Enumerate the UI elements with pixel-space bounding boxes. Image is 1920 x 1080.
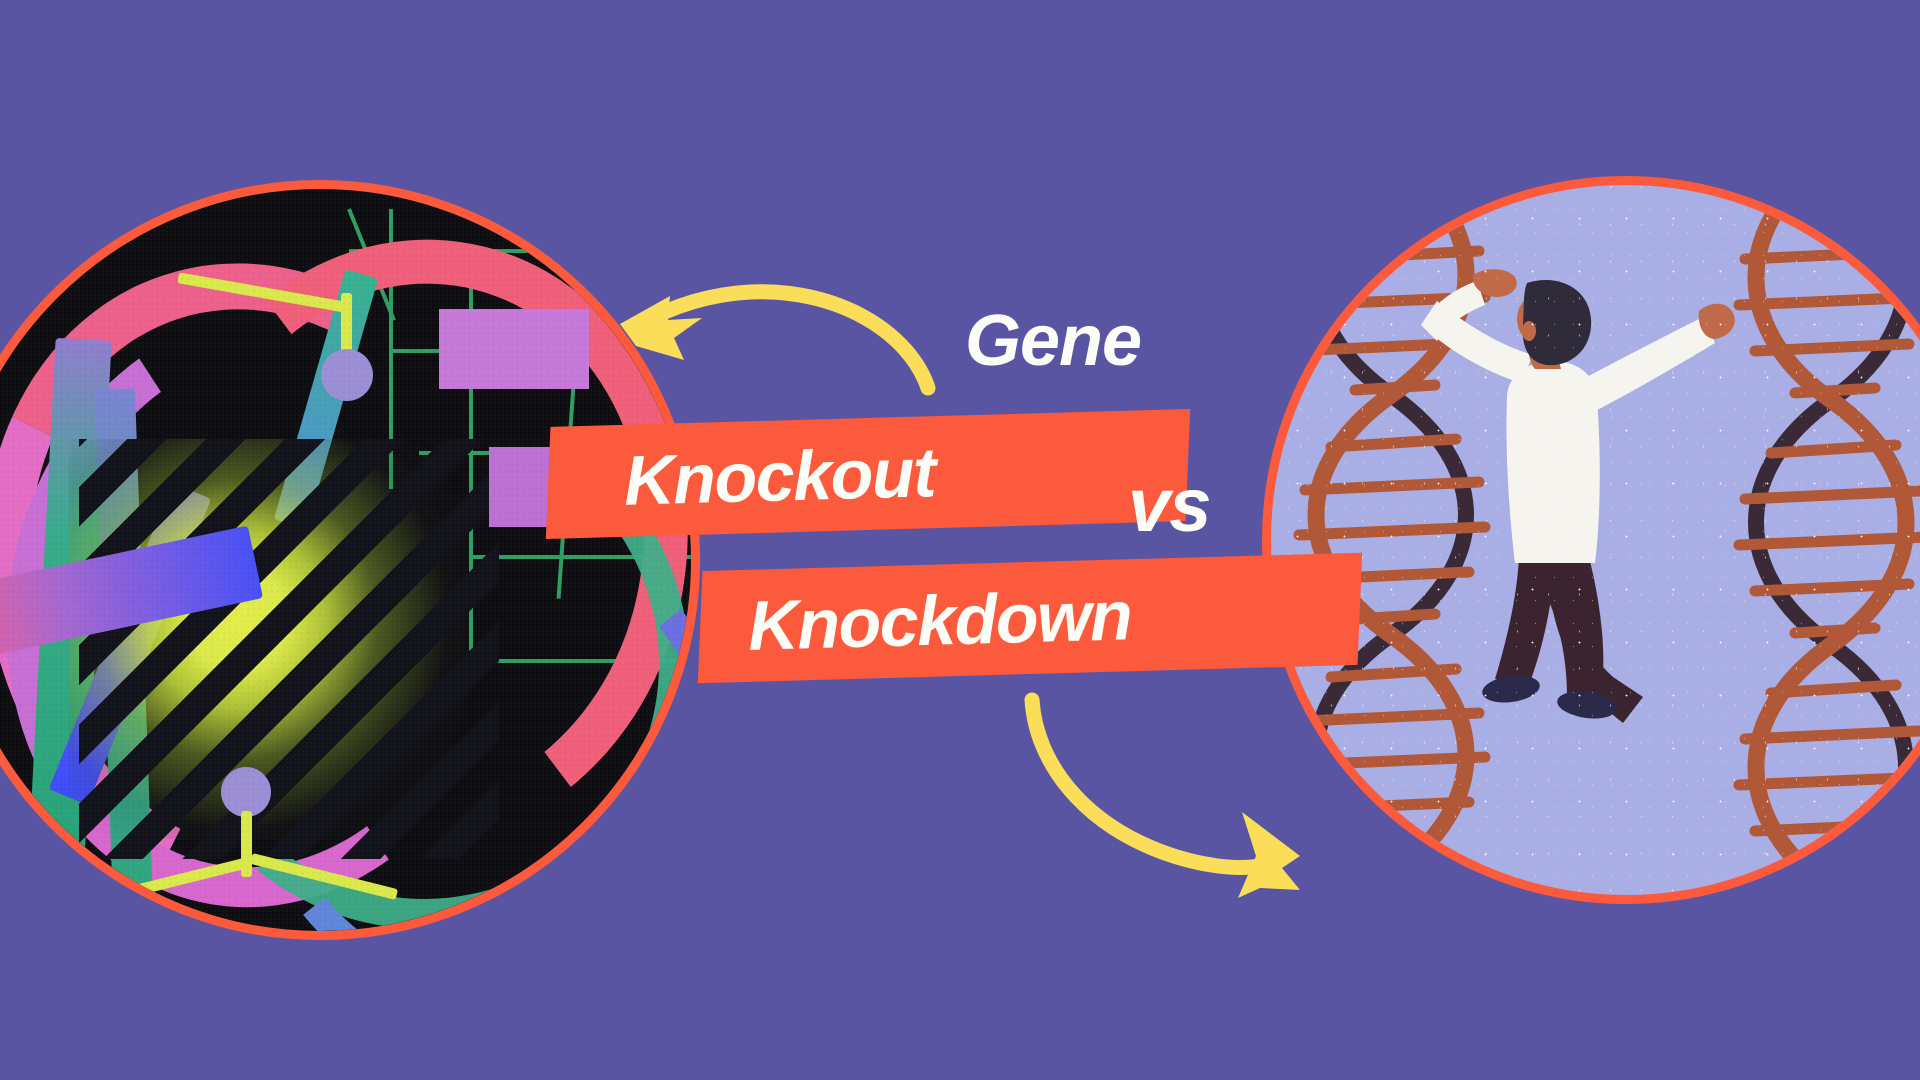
dna-scene-svg [1271,185,1920,895]
magenta-rectangle [439,309,589,389]
banner-knockdown-label: Knockdown [699,580,1132,662]
blue-teal-blob [0,839,15,931]
node-dot [321,349,373,401]
right-illustration-clip [1271,185,1920,895]
right-illustration-dna-helix [1262,176,1920,904]
blue-teal-blob [0,918,126,931]
arrow-to-left-circle-icon [610,268,940,408]
dna-helix-right [1739,185,1920,895]
banner-knockout: Knockout [546,409,1190,539]
left-illustration-abstract-cell [0,180,700,940]
title-word-gene: Gene [965,300,1141,382]
node-dot [221,767,271,817]
arrow-to-right-circle-icon [1010,690,1350,920]
banner-knockdown: Knockdown [698,553,1362,684]
left-illustration-clip [0,189,691,931]
title-separator-vs: vs [1128,462,1211,549]
diagonal-stripes [79,439,499,859]
poster-canvas: Gene Knockout Knockdown vs [0,0,1920,1080]
banner-knockout-label: Knockout [547,437,936,518]
